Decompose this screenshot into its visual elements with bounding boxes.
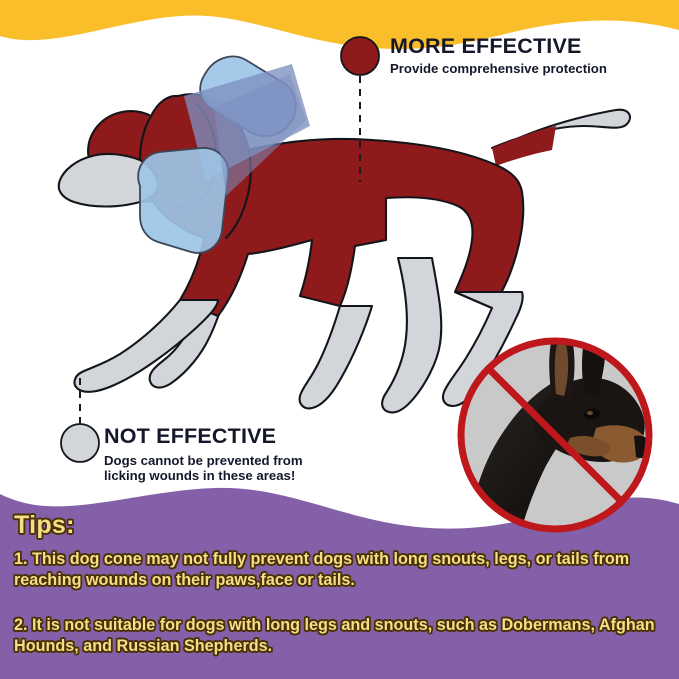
tips-section: Tips: 1. This dog cone may not fully pre… — [0, 498, 679, 679]
not-effective-callout: NOT EFFECTIVE Dogs cannot be prevented f… — [56, 422, 386, 488]
poster-root: MORE EFFECTIVE Provide comprehensive pro… — [0, 0, 679, 679]
more-effective-callout: MORE EFFECTIVE Provide comprehensive pro… — [338, 34, 668, 88]
not-effective-subtitle-line1: Dogs cannot be prevented from — [104, 454, 303, 469]
more-effective-subtitle: Provide comprehensive protection — [390, 61, 607, 76]
tips-item-2: 2. It is not suitable for dogs with long… — [14, 615, 674, 656]
not-effective-subtitle: Dogs cannot be prevented from licking wo… — [104, 454, 303, 483]
more-effective-title: MORE EFFECTIVE — [390, 34, 582, 59]
not-effective-title: NOT EFFECTIVE — [104, 424, 276, 449]
tips-heading: Tips: — [14, 511, 75, 540]
tips-item-1: 1. This dog cone may not fully prevent d… — [14, 549, 674, 590]
not-effective-subtitle-line2: licking wounds in these areas! — [104, 469, 303, 484]
